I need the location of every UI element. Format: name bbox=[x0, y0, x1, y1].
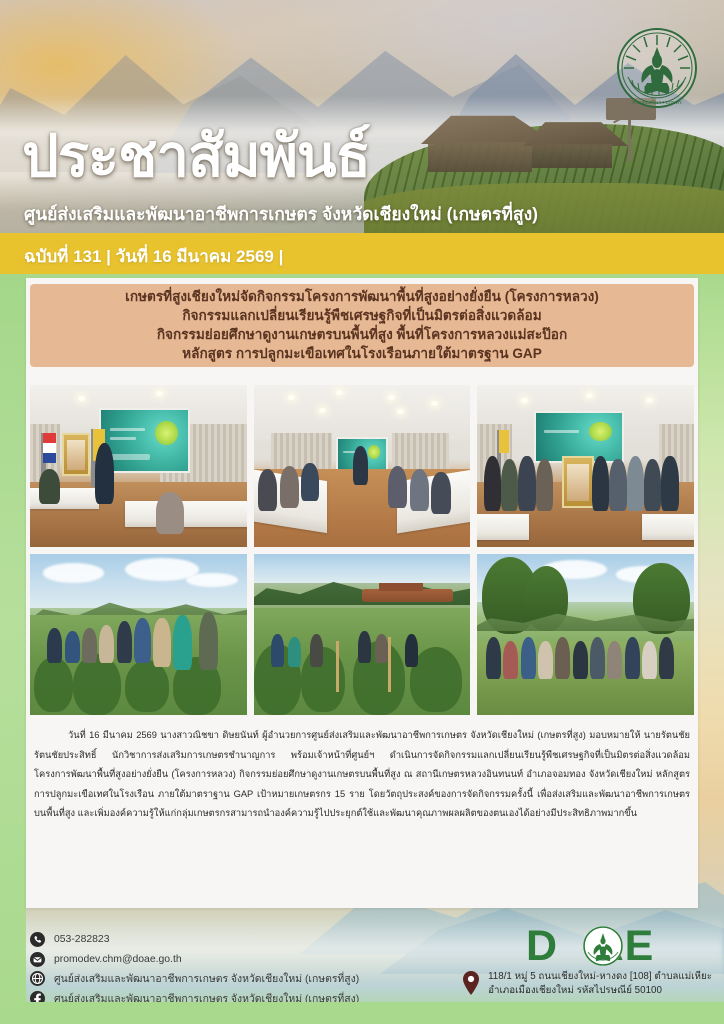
contact-website-text: ศูนย์ส่งเสริมและพัฒนาอาชีพการเกษตร จังหว… bbox=[54, 970, 359, 987]
left-green-stripe bbox=[0, 274, 26, 1024]
article-body: วันที่ 16 มีนาคม 2569 นางสาวณิชขา ดิษยนั… bbox=[34, 726, 690, 886]
doae-logo-seal-icon bbox=[582, 925, 624, 967]
bottom-green-bar bbox=[0, 1002, 724, 1024]
doae-garuda-seal-icon: กรมส่งเสริมการเกษตร bbox=[614, 25, 700, 111]
headline-panel: เกษตรที่สูงเชียงใหม่จัดกิจกรรมโครงการพัฒ… bbox=[30, 284, 694, 367]
address-line-2: อำเภอเมืองเชียงใหม่ รหัสไปรษณีย์ 50100 bbox=[488, 985, 662, 996]
globe-icon bbox=[30, 971, 45, 986]
headline-line-1: เกษตรที่สูงเชียงใหม่จัดกิจกรรมโครงการพัฒ… bbox=[125, 288, 599, 306]
contact-email-text: promodev.chm@doae.go.th bbox=[54, 954, 182, 965]
photo-group-portrait-outdoor bbox=[477, 554, 694, 716]
issue-line: ฉบับที่ 131 | วันที่ 16 มีนาคม 2569 | bbox=[24, 243, 283, 270]
contact-list: 053-282823 promodev.chm@doae.go.th ศูนย์… bbox=[30, 932, 359, 1006]
address-text: 118/1 หมู่ 5 ถนนเชียงใหม่-หางดง [108] ตำ… bbox=[488, 970, 712, 997]
seal-caption: กรมส่งเสริมการเกษตร bbox=[632, 99, 682, 106]
phone-icon bbox=[30, 932, 45, 947]
tree-trunk bbox=[628, 118, 631, 162]
headline-line-3: กิจกรรมย่อยศึกษาดูงานเกษตรบนพื้นที่สูง พ… bbox=[157, 326, 567, 344]
poster-page: กรมส่งเสริมการเกษตร ประชาสัมพันธ์ ศูนย์ส… bbox=[0, 0, 724, 1024]
contact-website[interactable]: ศูนย์ส่งเสริมและพัฒนาอาชีพการเกษตร จังหว… bbox=[30, 971, 359, 986]
doae-logo: DOAE bbox=[526, 923, 702, 969]
address-block: 118/1 หมู่ 5 ถนนเชียงใหม่-หางดง [108] ตำ… bbox=[462, 970, 712, 997]
doae-letter-e: E bbox=[625, 922, 655, 970]
photo-gallery bbox=[30, 385, 694, 715]
photo-meeting-room-wide bbox=[254, 385, 471, 547]
location-pin-icon bbox=[462, 971, 480, 995]
page-subtitle: ศูนย์ส่งเสริมและพัฒนาอาชีพการเกษตร จังหว… bbox=[24, 200, 538, 228]
envelope-icon bbox=[30, 952, 45, 967]
page-title: ประชาสัมพันธ์ bbox=[22, 128, 370, 186]
photo-terraced-highland-farm bbox=[254, 554, 471, 716]
article-text: วันที่ 16 มีนาคม 2569 นางสาวณิชขา ดิษยนั… bbox=[34, 730, 690, 818]
contact-email[interactable]: promodev.chm@doae.go.th bbox=[30, 952, 359, 967]
photo-field-visit-tomato-plot bbox=[30, 554, 247, 716]
headline-line-2: กิจกรรมแลกเปลี่ยนเรียนรู้พืชเศรษฐกิจที่เ… bbox=[182, 307, 541, 325]
footer: 053-282823 promodev.chm@doae.go.th ศูนย์… bbox=[0, 915, 724, 1010]
contact-phone-text: 053-282823 bbox=[54, 934, 109, 945]
headline-line-4: หลักสูตร การปลูกมะเขือเทศในโรงเรือนภายใต… bbox=[182, 345, 542, 363]
contact-phone[interactable]: 053-282823 bbox=[30, 932, 359, 947]
photo-group-portrait-indoor bbox=[477, 385, 694, 547]
photo-meeting-room-presenter bbox=[30, 385, 247, 547]
address-line-1: 118/1 หมู่ 5 ถนนเชียงใหม่-หางดง [108] ตำ… bbox=[488, 971, 712, 982]
doae-letter-d: D bbox=[526, 922, 558, 970]
header-banner: กรมส่งเสริมการเกษตร ประชาสัมพันธ์ ศูนย์ส… bbox=[0, 0, 724, 233]
